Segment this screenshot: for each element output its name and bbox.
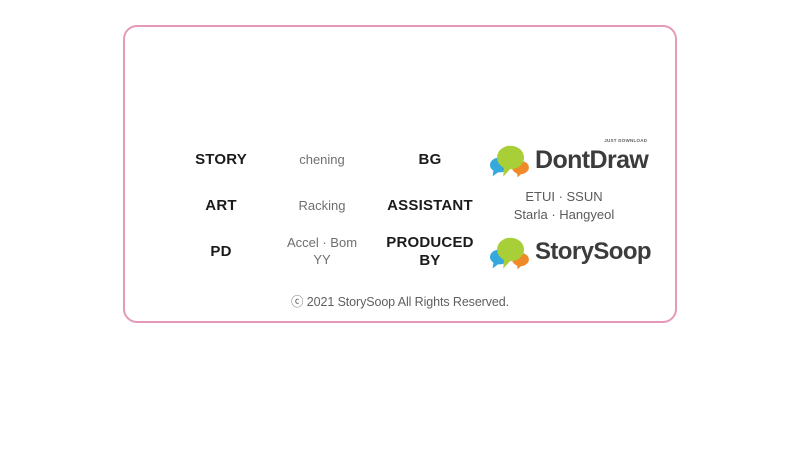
credits-grid: STORY chening BG — [175, 137, 645, 275]
credit-label-bg: BG — [377, 151, 483, 169]
produced-by-line-2: BY — [377, 252, 483, 270]
credits-row-story: STORY chening BG — [175, 137, 645, 183]
credits-row-pd: PD Accel · Bom YY PRODUCED BY — [175, 229, 645, 275]
speech-bubbles-icon — [487, 234, 533, 270]
produced-by-line-1: PRODUCED — [377, 234, 483, 252]
credits-page: STORY chening BG — [0, 0, 800, 451]
credit-value-story: chening — [267, 152, 377, 169]
credit-label-art: ART — [175, 197, 267, 215]
credit-value-assistant: ETUI · SSUN Starla · Hangyeol — [483, 188, 645, 225]
storysoop-logo: StorySoop — [487, 234, 651, 270]
assistant-names-line-1: ETUI · SSUN — [483, 188, 645, 206]
credit-value-bg: DontDraw JUST DOWNLOAD — [483, 142, 648, 178]
dontdraw-superscript: JUST DOWNLOAD — [604, 139, 647, 144]
storysoop-wordmark-text: StorySoop — [535, 238, 651, 265]
credit-label-pd: PD — [175, 243, 267, 261]
dontdraw-wordmark-text: DontDraw — [535, 146, 648, 174]
credits-card: STORY chening BG — [123, 25, 677, 323]
credits-row-art: ART Racking ASSISTANT ETUI · SSUN Starla… — [175, 183, 645, 229]
assistant-names-line-2: Starla · Hangyeol — [483, 206, 645, 224]
credit-value-pd: Accel · Bom YY — [267, 235, 377, 269]
credit-label-story: STORY — [175, 151, 267, 169]
copyright-text: ⓒ 2021 StorySoop All Rights Reserved. — [125, 291, 675, 310]
credit-label-produced-by: PRODUCED BY — [377, 234, 483, 269]
dontdraw-wordmark: DontDraw JUST DOWNLOAD — [535, 148, 648, 173]
credit-value-produced-by: StorySoop — [483, 234, 651, 270]
credit-label-assistant: ASSISTANT — [377, 197, 483, 215]
speech-bubbles-icon — [487, 142, 533, 178]
pd-names-line-2: YY — [267, 252, 377, 269]
credit-value-art: Racking — [267, 198, 377, 215]
dontdraw-logo: DontDraw JUST DOWNLOAD — [487, 142, 648, 178]
pd-names-line-1: Accel · Bom — [267, 235, 377, 252]
storysoop-wordmark: StorySoop — [535, 240, 651, 264]
